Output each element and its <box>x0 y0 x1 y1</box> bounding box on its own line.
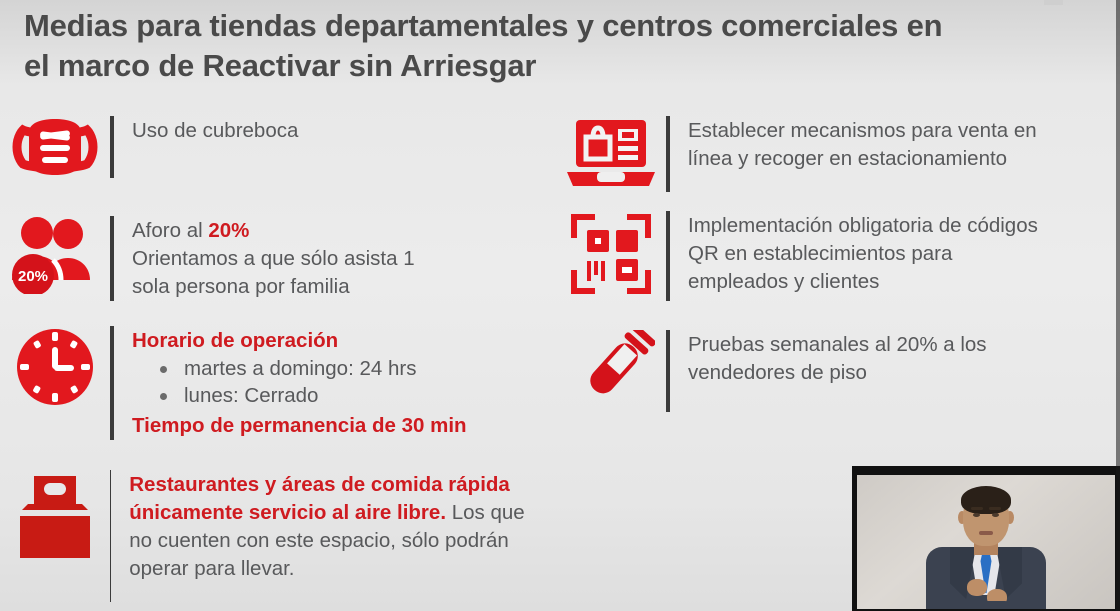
aforo-prefix: Aforo al <box>132 219 208 242</box>
measure-item-cubreboca: Uso de cubreboca <box>0 116 298 178</box>
interpreter-brow-right <box>989 507 1001 510</box>
interpreter-hair <box>961 486 1011 514</box>
interpreter-eye-left <box>973 513 980 517</box>
item-divider <box>666 116 670 192</box>
qr-line-3: empleados y clientes <box>688 268 1038 296</box>
measure-item-venta-en-linea: Establecer mecanismos para venta en líne… <box>556 116 1037 192</box>
measure-text-codigos-qr: Implementación obligatoria de códigos QR… <box>688 211 1038 296</box>
horario-bullet-list: martes a domingo: 24 hrs lunes: Cerrado <box>134 355 467 410</box>
horario-heading: Horario de operación <box>132 327 467 355</box>
horario-bullet-item: martes a domingo: 24 hrs <box>134 355 467 382</box>
aforo-line-3: sola persona por familia <box>132 273 415 301</box>
qr-line-1: Implementación obligatoria de códigos <box>688 212 1038 240</box>
two-people-20-percent-icon: 20% <box>0 216 110 294</box>
video-artifact <box>1044 0 1063 5</box>
item-divider <box>110 470 111 602</box>
measure-item-restaurantes: Restaurantes y áreas de comida rápida ún… <box>0 470 545 602</box>
page-title-line-1: Medias para tiendas departamentales y ce… <box>24 6 1034 46</box>
venta-line-2: línea y recoger en estacionamiento <box>688 145 1037 173</box>
page-title-line-2: el marco de Reactivar sin Arriesgar <box>24 46 1034 86</box>
measure-item-codigos-qr: Implementación obligatoria de códigos QR… <box>556 211 1038 301</box>
laptop-ecommerce-icon <box>556 116 666 192</box>
aforo-badge-text: 20% <box>18 268 48 285</box>
item-divider <box>110 216 114 301</box>
measure-text-horario: Horario de operación martes a domingo: 2… <box>132 326 467 440</box>
interpreter-brow-left <box>971 507 983 510</box>
measure-text-pruebas: Pruebas semanales al 20% a los vendedore… <box>688 330 987 387</box>
pruebas-line-1: Pruebas semanales al 20% a los <box>688 331 987 359</box>
aforo-line-2: Orientamos a que sólo asista 1 <box>132 245 415 273</box>
page-title: Medias para tiendas departamentales y ce… <box>24 6 1034 85</box>
interpreter-eye-right <box>992 513 999 517</box>
measure-item-horario: Horario de operación martes a domingo: 2… <box>0 326 467 440</box>
horario-footer: Tiempo de permanencia de 30 min <box>132 412 467 440</box>
interpreter-hand-left <box>967 579 987 596</box>
measure-text-cubreboca: Uso de cubreboca <box>132 116 298 145</box>
takeout-food-container-icon <box>0 470 110 562</box>
measure-item-aforo: 20% Aforo al 20% Orientamos a que sólo a… <box>0 216 415 301</box>
item-divider <box>110 326 114 440</box>
horario-bullet-item: lunes: Cerrado <box>134 382 467 409</box>
aforo-percent: 20% <box>208 219 249 242</box>
measure-item-pruebas: Pruebas semanales al 20% a los vendedore… <box>556 330 987 412</box>
venta-line-1: Establecer mecanismos para venta en <box>688 117 1037 145</box>
slide-root: Medias para tiendas departamentales y ce… <box>0 0 1120 611</box>
measure-text-aforo: Aforo al 20% Orientamos a que sólo asist… <box>132 216 415 301</box>
face-mask-icon <box>0 116 110 178</box>
aforo-line-1: Aforo al 20% <box>132 217 415 245</box>
qr-line-2: QR en establecimientos para <box>688 240 1038 268</box>
measure-text-restaurantes: Restaurantes y áreas de comida rápida ún… <box>129 470 545 583</box>
interpreter-video-frame <box>857 475 1115 609</box>
item-divider <box>110 116 114 178</box>
interpreter-mouth <box>979 531 993 535</box>
measure-text-venta-en-linea: Establecer mecanismos para venta en líne… <box>688 116 1037 173</box>
clock-icon <box>0 326 110 408</box>
item-divider <box>666 211 670 301</box>
qr-code-icon <box>556 211 666 297</box>
test-tube-icon <box>556 330 666 412</box>
pruebas-line-2: vendedores de piso <box>688 359 987 387</box>
sign-language-interpreter-video[interactable] <box>852 466 1120 611</box>
item-divider <box>666 330 670 412</box>
interpreter-sleeve <box>983 601 1009 609</box>
frame-edge-right <box>1116 0 1120 611</box>
